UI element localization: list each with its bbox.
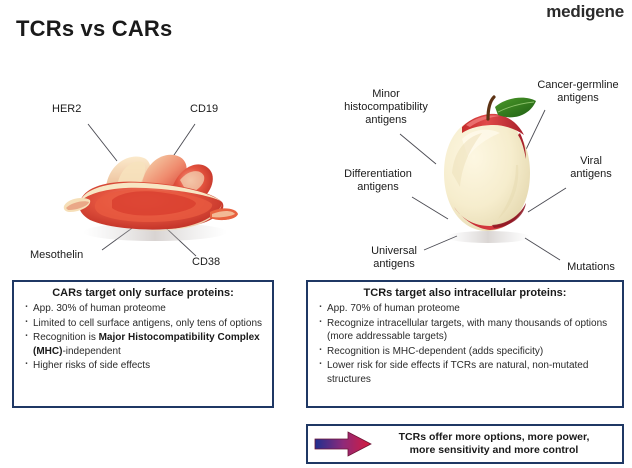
peeled-apple-photo (432, 95, 542, 245)
cars-bullet-list: App. 30% of human proteome Limited to ce… (22, 302, 266, 373)
bullet-text: Recognition is (33, 332, 99, 343)
cars-box-title: CARs target only surface proteins: (18, 287, 268, 299)
apple-peel-photo (60, 140, 250, 245)
cars-summary-box: CARs target only surface proteins: App. … (12, 280, 274, 408)
list-item: App. 70% of human proteome (316, 302, 616, 316)
list-item: Higher risks of side effects (22, 359, 266, 373)
list-item: App. 30% of human proteome (22, 302, 266, 316)
bullet-text: Recognize intracellular targets, with ma… (327, 318, 607, 343)
conclusion-banner: TCRs offer more options, more power, mor… (306, 424, 624, 464)
page-title: TCRs vs CARs (16, 16, 172, 42)
label-her2: HER2 (52, 103, 81, 116)
label-minor-histocompatibility: Minor histocompatibility antigens (330, 88, 442, 127)
label-cancer-germline: Cancer-germline antigens (528, 79, 628, 105)
list-item: Recognize intracellular targets, with ma… (316, 317, 616, 344)
label-viral: Viral antigens (560, 155, 622, 181)
bullet-text: Limited to cell surface antigens, only t… (33, 318, 262, 329)
slide-root: medigene TCRs vs CARs (0, 0, 632, 468)
list-item: Limited to cell surface antigens, only t… (22, 317, 266, 331)
bullet-text: App. 70% of human proteome (327, 303, 460, 314)
medigene-logo: medigene (546, 2, 624, 22)
label-cd38: CD38 (192, 256, 220, 269)
label-universal: Universal antigens (360, 245, 428, 271)
tcrs-summary-box: TCRs target also intracellular proteins:… (306, 280, 624, 408)
list-item: Recognition is Major Histocompatibility … (22, 331, 266, 358)
label-mesothelin: Mesothelin (30, 249, 83, 262)
label-cd19: CD19 (190, 103, 218, 116)
bullet-text: Recognition is MHC-dependent (adds speci… (327, 346, 543, 357)
list-item: Lower risk for side effects if TCRs are … (316, 359, 616, 386)
tcrs-bullet-list: App. 70% of human proteome Recognize int… (316, 302, 616, 386)
list-item: Recognition is MHC-dependent (adds speci… (316, 345, 616, 359)
tcrs-box-title: TCRs target also intracellular proteins: (312, 287, 618, 299)
gradient-right-arrow-icon (314, 431, 372, 457)
bullet-text: Lower risk for side effects if TCRs are … (327, 360, 588, 385)
label-differentiation: Differentiation antigens (330, 168, 426, 194)
leader-minor-histocompatibility (400, 134, 436, 164)
label-mutations: Mutations (556, 261, 626, 274)
conclusion-text: TCRs offer more options, more power, mor… (372, 431, 622, 458)
bullet-text-tail: -independent (62, 346, 120, 357)
bullet-text: Higher risks of side effects (33, 360, 150, 371)
bullet-text: App. 30% of human proteome (33, 303, 166, 314)
